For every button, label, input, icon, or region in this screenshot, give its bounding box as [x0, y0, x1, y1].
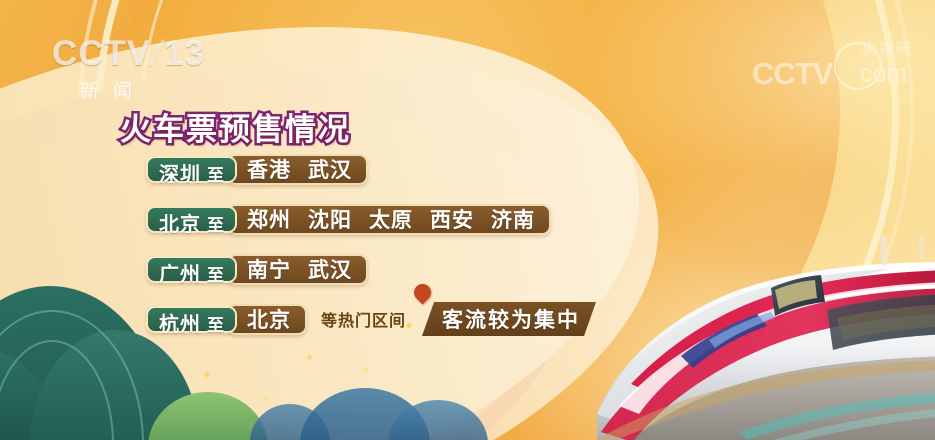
destination-city: 北京 [247, 304, 291, 334]
destination-city: 香港 [247, 154, 291, 184]
route-destination-pill: 郑州 沈阳 太原 西安 济南 [227, 204, 551, 235]
watermark-com-text: com [860, 60, 907, 89]
route-origin-pill: 杭州 至 [146, 306, 237, 333]
watermark-chinese-text: 央视网 [862, 38, 913, 59]
broadcast-screen: CCTV/13 新闻 CCTV 央视网 com 火车票预售情况 深圳 至 香港 … [0, 0, 935, 440]
page-title: 火车票预售情况 [120, 104, 351, 149]
destination-city: 南宁 [247, 254, 291, 284]
route-row: 杭州 至 北京 等热门区间 客流较为集中 [146, 302, 596, 336]
route-origin-pill: 广州 至 [146, 256, 237, 283]
callout-banner: 客流较为集中 [422, 302, 596, 336]
route-suffix-note: 等热门区间 [321, 307, 406, 331]
cctv-com-watermark: CCTV 央视网 com [752, 40, 922, 92]
origin-connector: 至 [207, 263, 224, 289]
callout-group: 客流较为集中 [416, 300, 596, 338]
destination-city: 西安 [430, 204, 474, 234]
cctv-logo-number: 13 [164, 34, 205, 73]
cctv-channel-logo: CCTV/13 新闻 [52, 36, 222, 98]
origin-connector: 至 [207, 313, 224, 339]
origin-city: 广州 [159, 261, 201, 287]
origin-city: 北京 [159, 211, 201, 237]
destination-city: 武汉 [308, 254, 352, 284]
origin-connector: 至 [207, 163, 224, 189]
destination-city: 沈阳 [308, 204, 352, 234]
destination-city: 武汉 [308, 154, 352, 184]
origin-city: 杭州 [159, 311, 201, 337]
route-destination-pill: 南宁 武汉 [227, 254, 368, 285]
origin-city: 深圳 [159, 161, 201, 187]
destination-city: 郑州 [247, 204, 291, 234]
destination-city: 济南 [491, 204, 535, 234]
watermark-cctv-text: CCTV [752, 56, 832, 92]
route-row: 深圳 至 香港 武汉 [146, 152, 596, 186]
route-destination-pill: 香港 武汉 [227, 154, 368, 185]
cctv-logo-word: CCTV [52, 34, 151, 73]
route-origin-pill: 深圳 至 [146, 156, 237, 183]
route-destination-pill: 北京 [227, 304, 307, 335]
route-row: 北京 至 郑州 沈阳 太原 西安 济南 [146, 202, 596, 236]
route-origin-pill: 北京 至 [146, 206, 237, 233]
high-speed-train-image [589, 236, 935, 440]
cctv-logo-subtitle: 新闻 [80, 76, 222, 103]
callout-text: 客流较为集中 [442, 304, 580, 334]
destination-city: 太原 [369, 204, 413, 234]
route-row: 广州 至 南宁 武汉 [146, 252, 596, 286]
origin-connector: 至 [207, 213, 224, 239]
route-list: 深圳 至 香港 武汉 北京 至 郑州 沈阳 太原 西安 济南 广州 [146, 152, 596, 352]
cctv-logo-text: CCTV/13 [52, 36, 222, 71]
